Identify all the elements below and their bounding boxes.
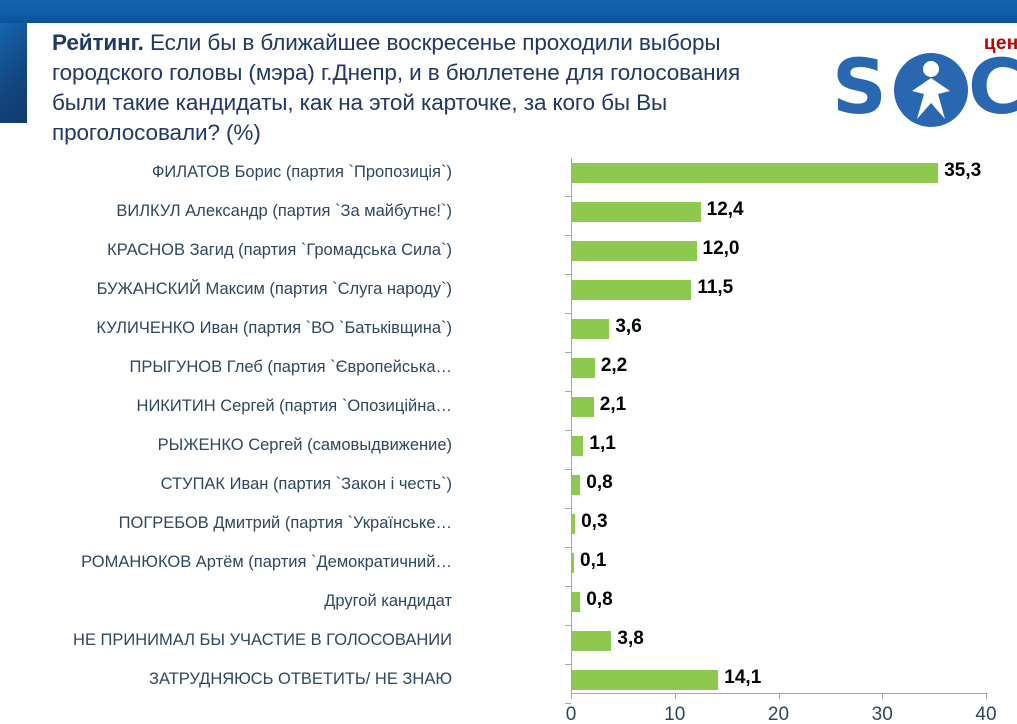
- x-axis-tick: [882, 693, 883, 699]
- y-axis-tick: [565, 196, 571, 197]
- value-label: 0,8: [586, 472, 612, 494]
- chart-row: КУЛИЧЕНКО Иван (партия `ВО `Батьківщина`…: [0, 314, 1017, 353]
- bar: [572, 592, 580, 612]
- bar: [572, 241, 697, 261]
- value-label: 0,3: [581, 511, 607, 533]
- value-label: 11,5: [697, 277, 733, 299]
- category-label: КУЛИЧЕНКО Иван (партия `ВО `Батьківщина`…: [0, 318, 452, 338]
- category-label: ЗАТРУДНЯЮСЬ ОТВЕТИТЬ/ НЕ ЗНАЮ: [0, 669, 452, 689]
- y-axis-tick: [565, 274, 571, 275]
- category-label: ПОГРЕБОВ Дмитрий (партия `Українське…: [0, 513, 452, 533]
- x-axis-tick: [675, 693, 676, 699]
- category-label: ПРЫГУНОВ Глеб (партия `Європейська…: [0, 357, 452, 377]
- y-axis-tick: [565, 508, 571, 509]
- bar: [572, 319, 609, 339]
- y-axis-tick: [565, 352, 571, 353]
- value-label: 0,8: [586, 589, 612, 611]
- top-blue-band: [0, 0, 1017, 23]
- category-label: НИКИТИН Сергей (партия `Опозиційна…: [0, 396, 452, 416]
- socis-logo: центр S CIS: [832, 31, 1017, 131]
- y-axis-tick: [565, 547, 571, 548]
- bar: [572, 514, 575, 534]
- chart-row: СТУПАК Иван (партия `Закон і честь`)0,8: [0, 470, 1017, 509]
- value-label: 35,3: [944, 160, 981, 182]
- x-axis-tick-label: 10: [645, 704, 705, 724]
- bar-chart: ФИЛАТОВ Борис (партия `Пропозиція`)35,3В…: [0, 148, 1017, 724]
- bar: [572, 202, 701, 222]
- value-label: 2,2: [601, 355, 627, 377]
- y-axis-tick: [565, 313, 571, 314]
- value-label: 3,6: [615, 316, 641, 338]
- page-title-rest: Если бы в ближайшее воскресенье проходил…: [52, 30, 740, 145]
- category-label: ФИЛАТОВ Борис (партия `Пропозиція`): [0, 162, 452, 182]
- chart-row: ЗАТРУДНЯЮСЬ ОТВЕТИТЬ/ НЕ ЗНАЮ14,1: [0, 665, 1017, 704]
- y-axis-tick: [565, 664, 571, 665]
- category-label: СТУПАК Иван (партия `Закон і честь`): [0, 474, 452, 494]
- page-title: Рейтинг. Если бы в ближайшее воскресенье…: [52, 28, 782, 148]
- chart-row: КРАСНОВ Загид (партия `Громадська Сила`)…: [0, 236, 1017, 275]
- y-axis-tick: [565, 586, 571, 587]
- chart-row: РЫЖЕНКО Сергей (самовыдвижение)1,1: [0, 431, 1017, 470]
- bar: [572, 475, 580, 495]
- category-label: ВИЛКУЛ Александр (партия `За майбутнє!`): [0, 201, 452, 221]
- page-title-bold: Рейтинг.: [52, 30, 144, 55]
- chart-row: Другой кандидат0,8: [0, 587, 1017, 626]
- x-axis-tick: [986, 693, 987, 699]
- y-axis-tick: [565, 235, 571, 236]
- chart-row: БУЖАНСКИЙ Максим (партия `Слуга народу`)…: [0, 275, 1017, 314]
- x-axis-tick: [571, 693, 572, 699]
- value-label: 14,1: [724, 667, 761, 689]
- bar: [572, 553, 574, 573]
- x-axis-tick-label: 20: [749, 704, 809, 724]
- chart-row: НИКИТИН Сергей (партия `Опозиційна…2,1: [0, 392, 1017, 431]
- value-label: 12,4: [707, 199, 744, 221]
- svg-text:S: S: [832, 47, 885, 131]
- value-label: 1,1: [589, 433, 615, 455]
- chart-row: РОМАНЮКОВ Артём (партия `Демократичний…0…: [0, 548, 1017, 587]
- slide-header: Рейтинг. Если бы в ближайшее воскресенье…: [27, 23, 1017, 145]
- x-axis-tick-label: 40: [956, 704, 1016, 724]
- left-blue-block: [0, 23, 27, 123]
- y-axis-tick: [565, 430, 571, 431]
- value-label: 0,1: [580, 550, 606, 572]
- bar: [572, 397, 594, 417]
- bar: [572, 163, 938, 183]
- y-axis-tick: [565, 625, 571, 626]
- value-label: 3,8: [617, 628, 643, 650]
- y-axis-tick: [565, 703, 571, 704]
- socis-wordmark-icon: S CIS: [832, 47, 1017, 133]
- chart-row: ВИЛКУЛ Александр (партия `За майбутнє!`)…: [0, 197, 1017, 236]
- value-label: 12,0: [703, 238, 740, 260]
- bar: [572, 436, 583, 456]
- bar: [572, 631, 611, 651]
- svg-text:CIS: CIS: [968, 47, 1017, 131]
- chart-row: ПОГРЕБОВ Дмитрий (партия `Українське…0,3: [0, 509, 1017, 548]
- category-label: РЫЖЕНКО Сергей (самовыдвижение): [0, 435, 452, 455]
- x-axis-tick-label: 0: [541, 704, 601, 724]
- chart-row: ПРЫГУНОВ Глеб (партия `Європейська…2,2: [0, 353, 1017, 392]
- bar: [572, 358, 595, 378]
- category-label: РОМАНЮКОВ Артём (партия `Демократичний…: [0, 552, 452, 572]
- bar: [572, 280, 691, 300]
- category-label: КРАСНОВ Загид (партия `Громадська Сила`): [0, 240, 452, 260]
- slide-root: Рейтинг. Если бы в ближайшее воскресенье…: [0, 0, 1017, 724]
- category-label: НЕ ПРИНИМАЛ БЫ УЧАСТИЕ В ГОЛОСОВАНИИ: [0, 630, 452, 650]
- value-label: 2,1: [600, 394, 626, 416]
- category-label: Другой кандидат: [0, 591, 452, 611]
- y-axis-tick: [565, 469, 571, 470]
- bar: [572, 670, 718, 690]
- x-axis-tick: [779, 693, 780, 699]
- y-axis-tick: [565, 391, 571, 392]
- chart-row: НЕ ПРИНИМАЛ БЫ УЧАСТИЕ В ГОЛОСОВАНИИ3,8: [0, 626, 1017, 665]
- category-label: БУЖАНСКИЙ Максим (партия `Слуга народу`): [0, 279, 452, 299]
- chart-row: ФИЛАТОВ Борис (партия `Пропозиція`)35,3: [0, 158, 1017, 197]
- x-axis-tick-label: 30: [852, 704, 912, 724]
